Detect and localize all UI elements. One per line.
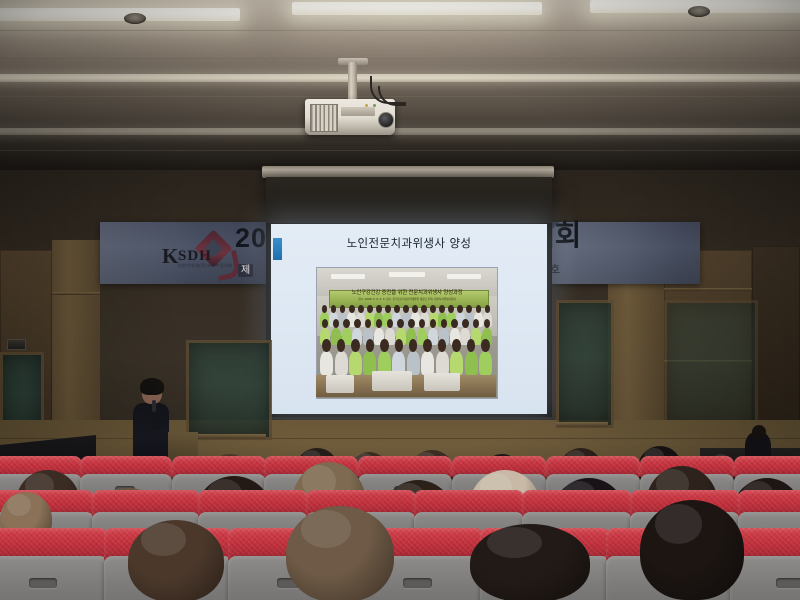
audience-head <box>128 520 224 600</box>
seat-handle <box>403 578 432 588</box>
audience-head <box>640 500 744 600</box>
audience-head <box>470 524 590 600</box>
seat-handle <box>776 578 800 588</box>
seat-handle <box>29 578 57 588</box>
auditorium-photo: K SDH 대한치위생(학)과교수협의회 20 제 대회 13-1호 노인전문치… <box>0 0 800 600</box>
audience-seating <box>0 0 800 600</box>
audience-head <box>286 506 394 600</box>
